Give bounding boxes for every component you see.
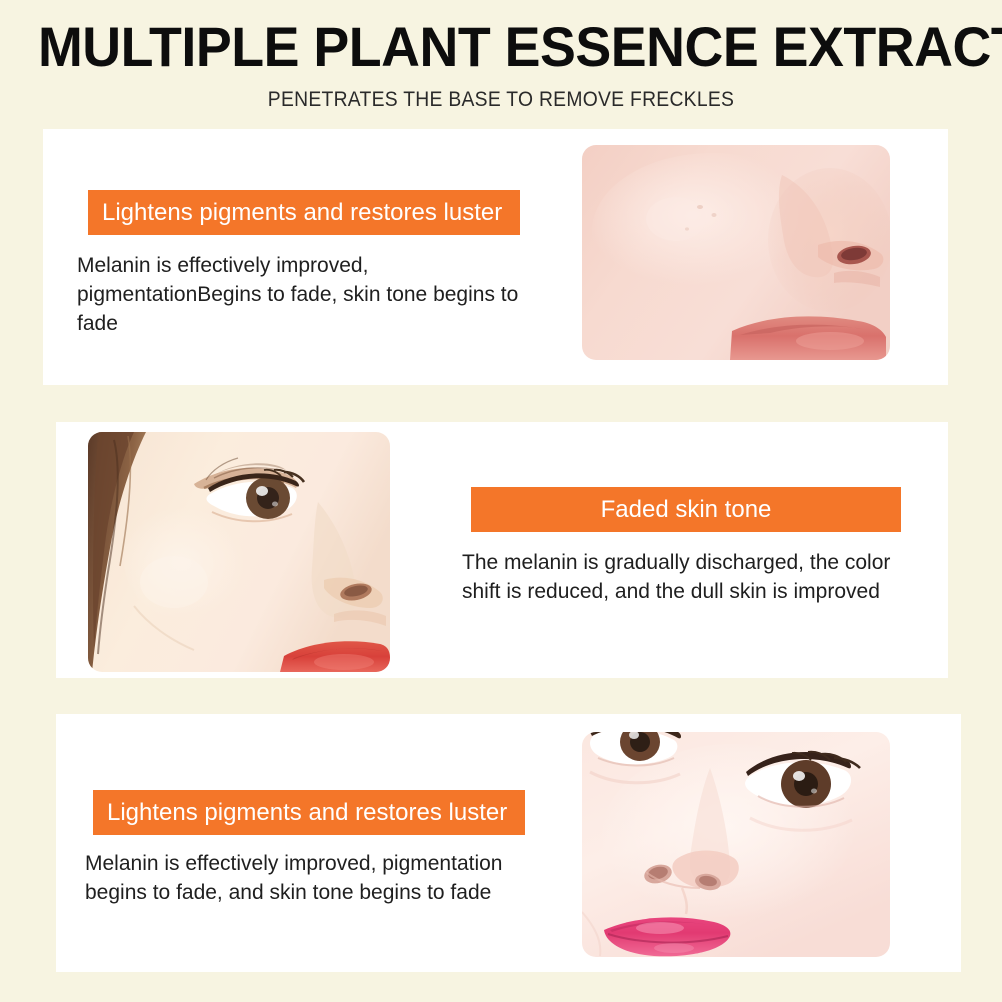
benefit-label-2: Faded skin tone — [471, 487, 901, 532]
page-subtitle: PENETRATES THE BASE TO REMOVE FRECKLES — [40, 88, 962, 112]
benefit-photo-2 — [88, 432, 390, 672]
benefit-card-3: Lightens pigments and restores luster Me… — [56, 714, 961, 972]
benefit-body-2: The melanin is gradually discharged, the… — [462, 548, 932, 606]
frontal-face-eyes-nose-lips-photo — [582, 732, 890, 957]
header: MULTIPLE PLANT ESSENCE EXTRACTION PENETR… — [0, 0, 1002, 129]
benefit-body-3: Melanin is effectively improved, pigment… — [85, 849, 555, 907]
close-up-cheek-nose-lips-photo — [582, 145, 890, 360]
benefit-card-1: Lightens pigments and restores luster Me… — [43, 129, 948, 385]
benefit-label-3: Lightens pigments and restores luster — [93, 790, 525, 835]
benefit-body-1: Melanin is effectively improved, pigment… — [77, 251, 537, 338]
benefit-photo-3 — [582, 732, 890, 957]
page-title: MULTIPLE PLANT ESSENCE EXTRACTION — [38, 17, 927, 77]
benefit-card-2: Faded skin tone The melanin is gradually… — [56, 422, 948, 678]
benefit-label-1: Lightens pigments and restores luster — [88, 190, 520, 235]
three-quarter-face-eye-nose-photo — [88, 432, 390, 672]
benefit-photo-1 — [582, 145, 890, 360]
